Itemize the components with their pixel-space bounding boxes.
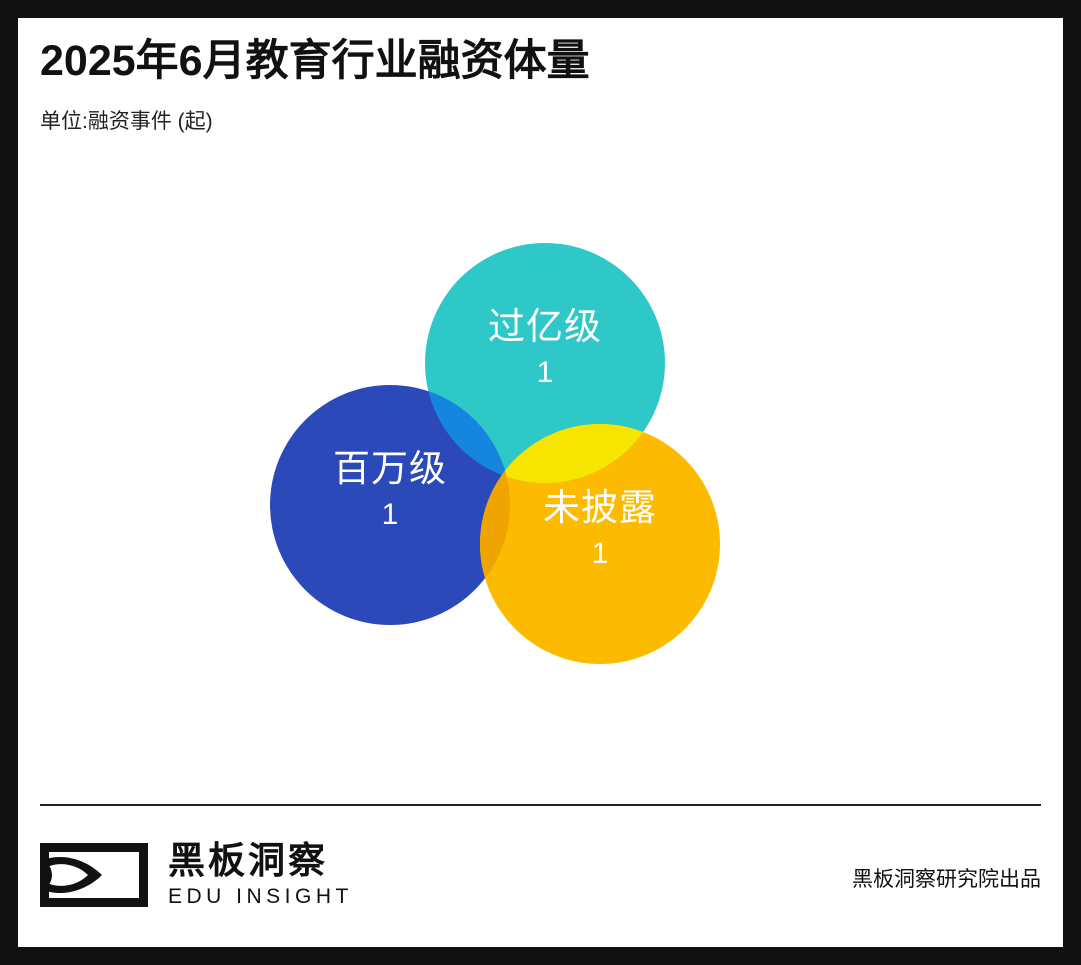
footer-credit: 黑板洞察研究院出品 <box>852 869 1041 890</box>
brand-name-cn: 黑板洞察 <box>168 842 353 879</box>
venn-segment-label-bai-wan: 百万级 1 <box>270 450 510 530</box>
venn-diagram: 过亿级 1 百万级 1 未披露 1 <box>18 18 1063 798</box>
eye-logo-icon <box>40 843 148 907</box>
venn-label-text: 未披露 <box>480 489 720 526</box>
brand-text: 黑板洞察 EDU INSIGHT <box>168 842 353 907</box>
venn-segment-label-wei-pi-lu: 未披露 1 <box>480 489 720 569</box>
footer: 黑板洞察 EDU INSIGHT 黑板洞察研究院出品 <box>40 838 1041 918</box>
venn-circles-svg <box>18 18 1063 798</box>
venn-label-text: 过亿级 <box>425 308 665 345</box>
venn-label-value: 1 <box>480 539 720 569</box>
chart-canvas: 2025年6月教育行业融资体量 单位:融资事件 (起) <box>18 18 1063 947</box>
venn-label-text: 百万级 <box>270 450 510 487</box>
venn-label-value: 1 <box>270 500 510 530</box>
venn-segment-label-over-yi: 过亿级 1 <box>425 308 665 388</box>
brand-name-en: EDU INSIGHT <box>168 886 353 907</box>
brand-logo: 黑板洞察 EDU INSIGHT <box>40 842 353 907</box>
venn-label-value: 1 <box>425 358 665 388</box>
footer-divider <box>40 804 1041 806</box>
